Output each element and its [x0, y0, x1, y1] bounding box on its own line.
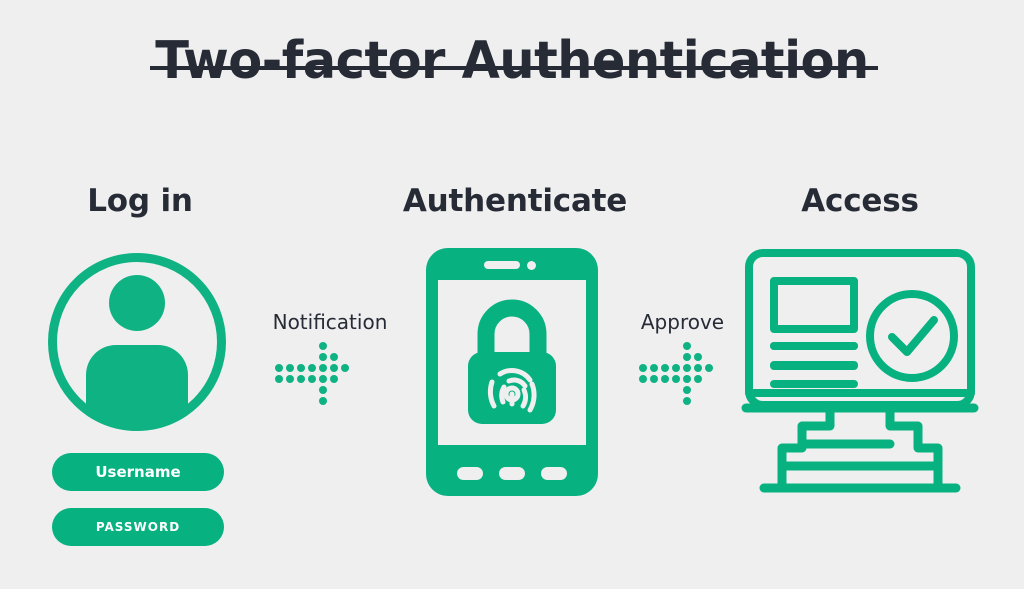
connector-label-notification: Notification [240, 310, 420, 334]
user-avatar-icon [48, 253, 226, 431]
monitor-check-icon [744, 248, 976, 496]
step-heading-authenticate: Authenticate [390, 183, 640, 219]
username-field[interactable]: Username [52, 453, 224, 491]
phone-lock-fingerprint-icon [426, 248, 598, 496]
padlock-fingerprint-icon [464, 298, 560, 430]
phone-camera-dot [527, 261, 536, 270]
phone-button-3 [541, 467, 567, 480]
page-title: Two-factor Authentication [26, 34, 999, 89]
step-heading-access: Access [760, 183, 960, 219]
phone-screen [438, 280, 586, 445]
avatar-ring-shape [48, 253, 226, 431]
step-heading-login: Log in [40, 183, 240, 219]
password-field[interactable]: PASSWORD [52, 508, 224, 546]
dotted-arrow-right-icon [640, 341, 722, 399]
phone-speaker-slot [484, 261, 520, 269]
title-block: Two-factor Authentication [0, 34, 1024, 89]
infographic-canvas: Two-factor Authentication Log in Usernam… [0, 0, 1024, 589]
phone-button-1 [457, 467, 483, 480]
dotted-arrow-right-icon [276, 341, 358, 399]
title-underline [150, 66, 878, 70]
phone-button-2 [499, 467, 525, 480]
connector-label-approve: Approve [615, 310, 750, 334]
